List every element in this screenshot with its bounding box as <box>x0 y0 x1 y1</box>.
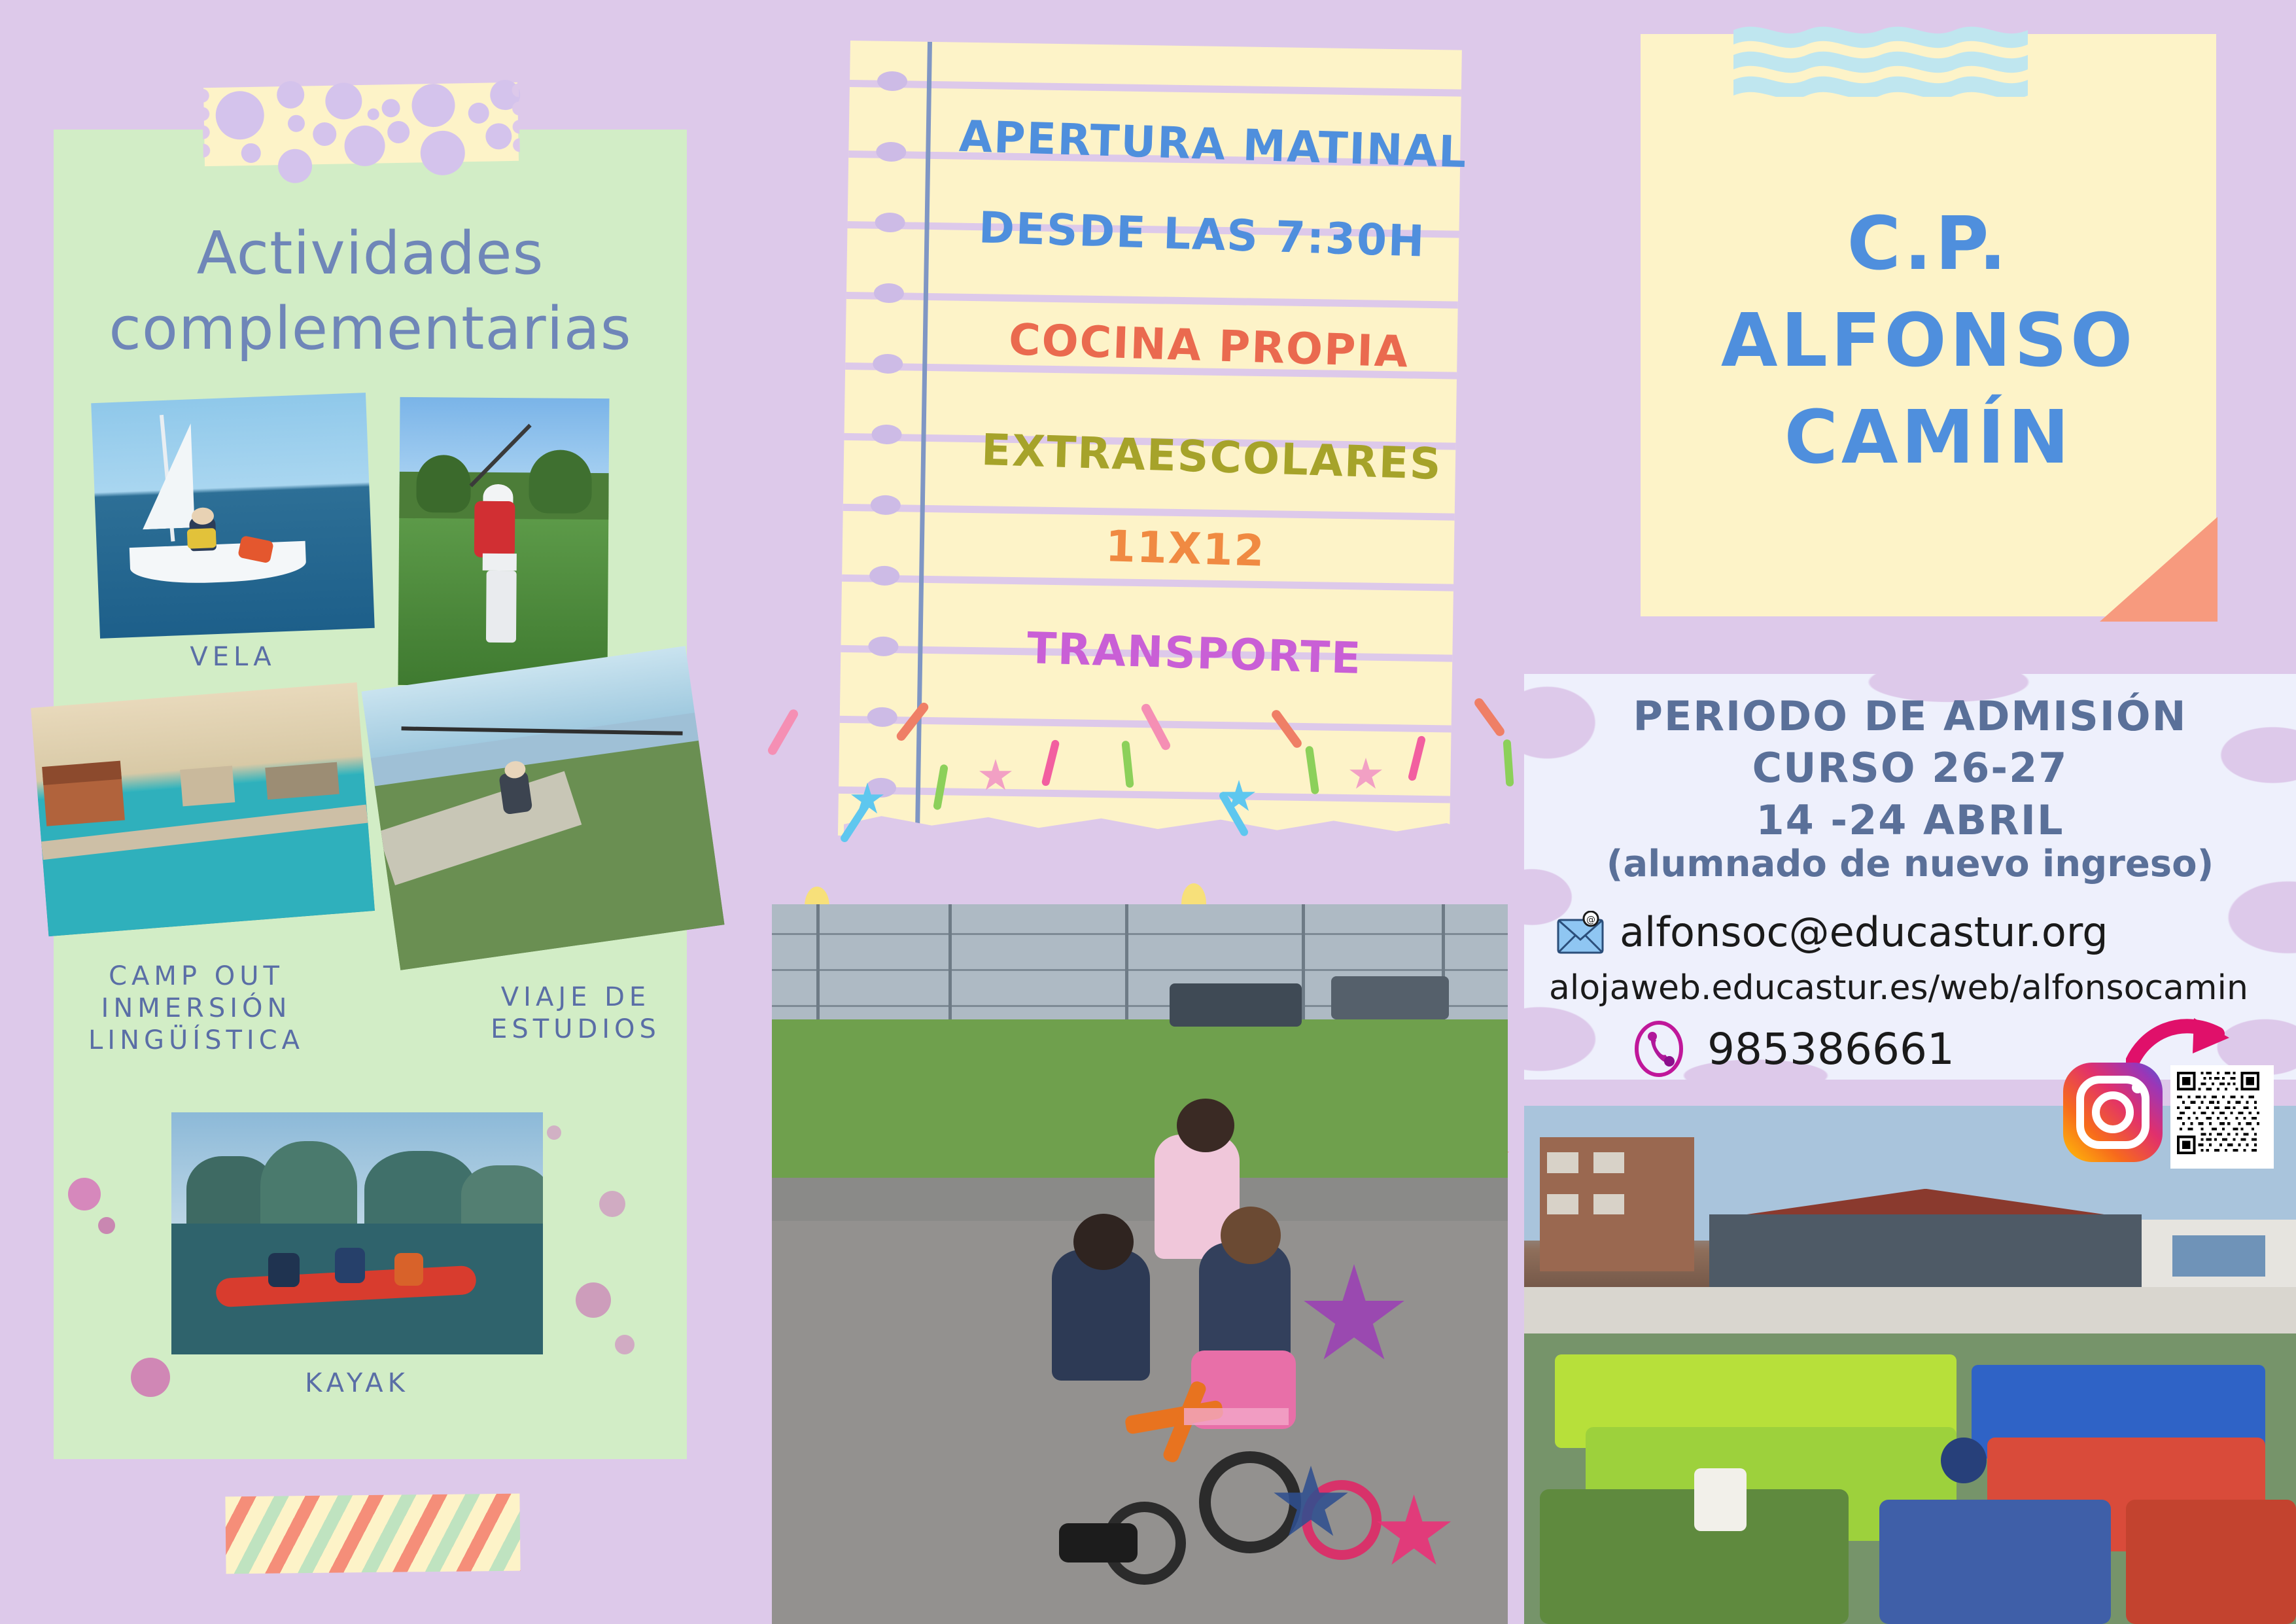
activities-title: Actividades complementarias <box>54 216 687 366</box>
svg-text:@: @ <box>1586 915 1595 925</box>
envelope-at-icon: @ <box>1557 911 1613 954</box>
admission-line3: 14 -24 ABRIL <box>1524 794 2296 846</box>
caption-camp-out: CAMP OUT INMERSIÓN LINGÜÍSTICA <box>26 961 366 1056</box>
confetti-dash <box>1503 739 1514 787</box>
notebook-line-6: TRANSPORTE <box>1026 623 1363 684</box>
pavement-stripe-pink <box>1184 1408 1289 1425</box>
notebook-line-5: 11X12 <box>1105 521 1266 576</box>
website-url[interactable]: alojaweb.educastur.es/web/alfonsocamin <box>1549 968 2248 1008</box>
email-address[interactable]: alfonsoc@educastur.org <box>1620 908 2108 956</box>
washi-tape-stripes <box>225 1494 520 1574</box>
contact-email-row[interactable]: @ alfonsoc@educastur.org <box>1557 908 2276 956</box>
photo-golf <box>398 397 609 686</box>
caption-camp-out-line1: CAMP OUT <box>26 961 366 993</box>
photo-kayak <box>171 1112 543 1354</box>
caption-viaje: VIAJE DE ESTUDIOS <box>445 981 706 1046</box>
photo-camp-out <box>31 682 375 936</box>
photo-school-yard <box>1524 1106 2296 1624</box>
photo-viaje-estudios <box>362 646 725 970</box>
school-title-line3: CAMÍN <box>1641 390 2216 487</box>
caption-vela: VELA <box>96 641 370 673</box>
photo-sailing <box>91 393 375 639</box>
caption-kayak: KAYAK <box>171 1368 543 1400</box>
admission-line1: PERIODO DE ADMISIÓN <box>1524 690 2296 742</box>
glitter-dot <box>576 1282 611 1318</box>
glitter-dot <box>599 1191 625 1217</box>
school-title-line2: ALFONSO <box>1641 293 2216 390</box>
school-title-line1: C.P. <box>1641 196 2216 293</box>
qr-code-icon[interactable] <box>2170 1065 2274 1169</box>
caption-viaje-line2: ESTUDIOS <box>445 1014 706 1046</box>
washi-tape-dots <box>203 82 519 166</box>
contact-website-row[interactable]: alojaweb.educastur.es/web/alfonsocamin <box>1549 968 2288 1008</box>
phone-icon <box>1633 1021 1685 1077</box>
caption-camp-out-line3: LINGÜÍSTICA <box>26 1025 366 1057</box>
activities-title-line2: complementarias <box>54 291 687 366</box>
admission-note: (alumnado de nuevo ingreso) <box>1524 843 2296 885</box>
caption-camp-out-line2: INMERSIÓN <box>26 993 366 1025</box>
admission-heading: PERIODO DE ADMISIÓN CURSO 26-27 14 -24 A… <box>1524 690 2296 846</box>
glitter-dot <box>131 1358 170 1397</box>
caption-viaje-line1: VIAJE DE <box>445 981 706 1014</box>
school-title: C.P. ALFONSO CAMÍN <box>1641 196 2216 486</box>
phone-number[interactable]: 985386661 <box>1707 1024 1955 1074</box>
glitter-dot <box>98 1217 115 1234</box>
glitter-dot <box>547 1125 561 1140</box>
flyer-canvas: Actividades complementarias VELA GOLF CA… <box>0 0 2296 1624</box>
wave-lines-icon <box>1733 18 2028 97</box>
glitter-dot <box>615 1335 635 1354</box>
washi-tape-waves <box>1733 18 2028 97</box>
confetti-dash <box>766 708 799 757</box>
admission-line2: CURSO 26-27 <box>1524 742 2296 794</box>
photo-children-trikes <box>772 904 1508 1624</box>
instagram-icon[interactable] <box>2061 1060 2165 1165</box>
glitter-dot <box>68 1178 101 1210</box>
activities-title-line1: Actividades <box>54 216 687 291</box>
confetti-dash <box>1472 696 1506 737</box>
